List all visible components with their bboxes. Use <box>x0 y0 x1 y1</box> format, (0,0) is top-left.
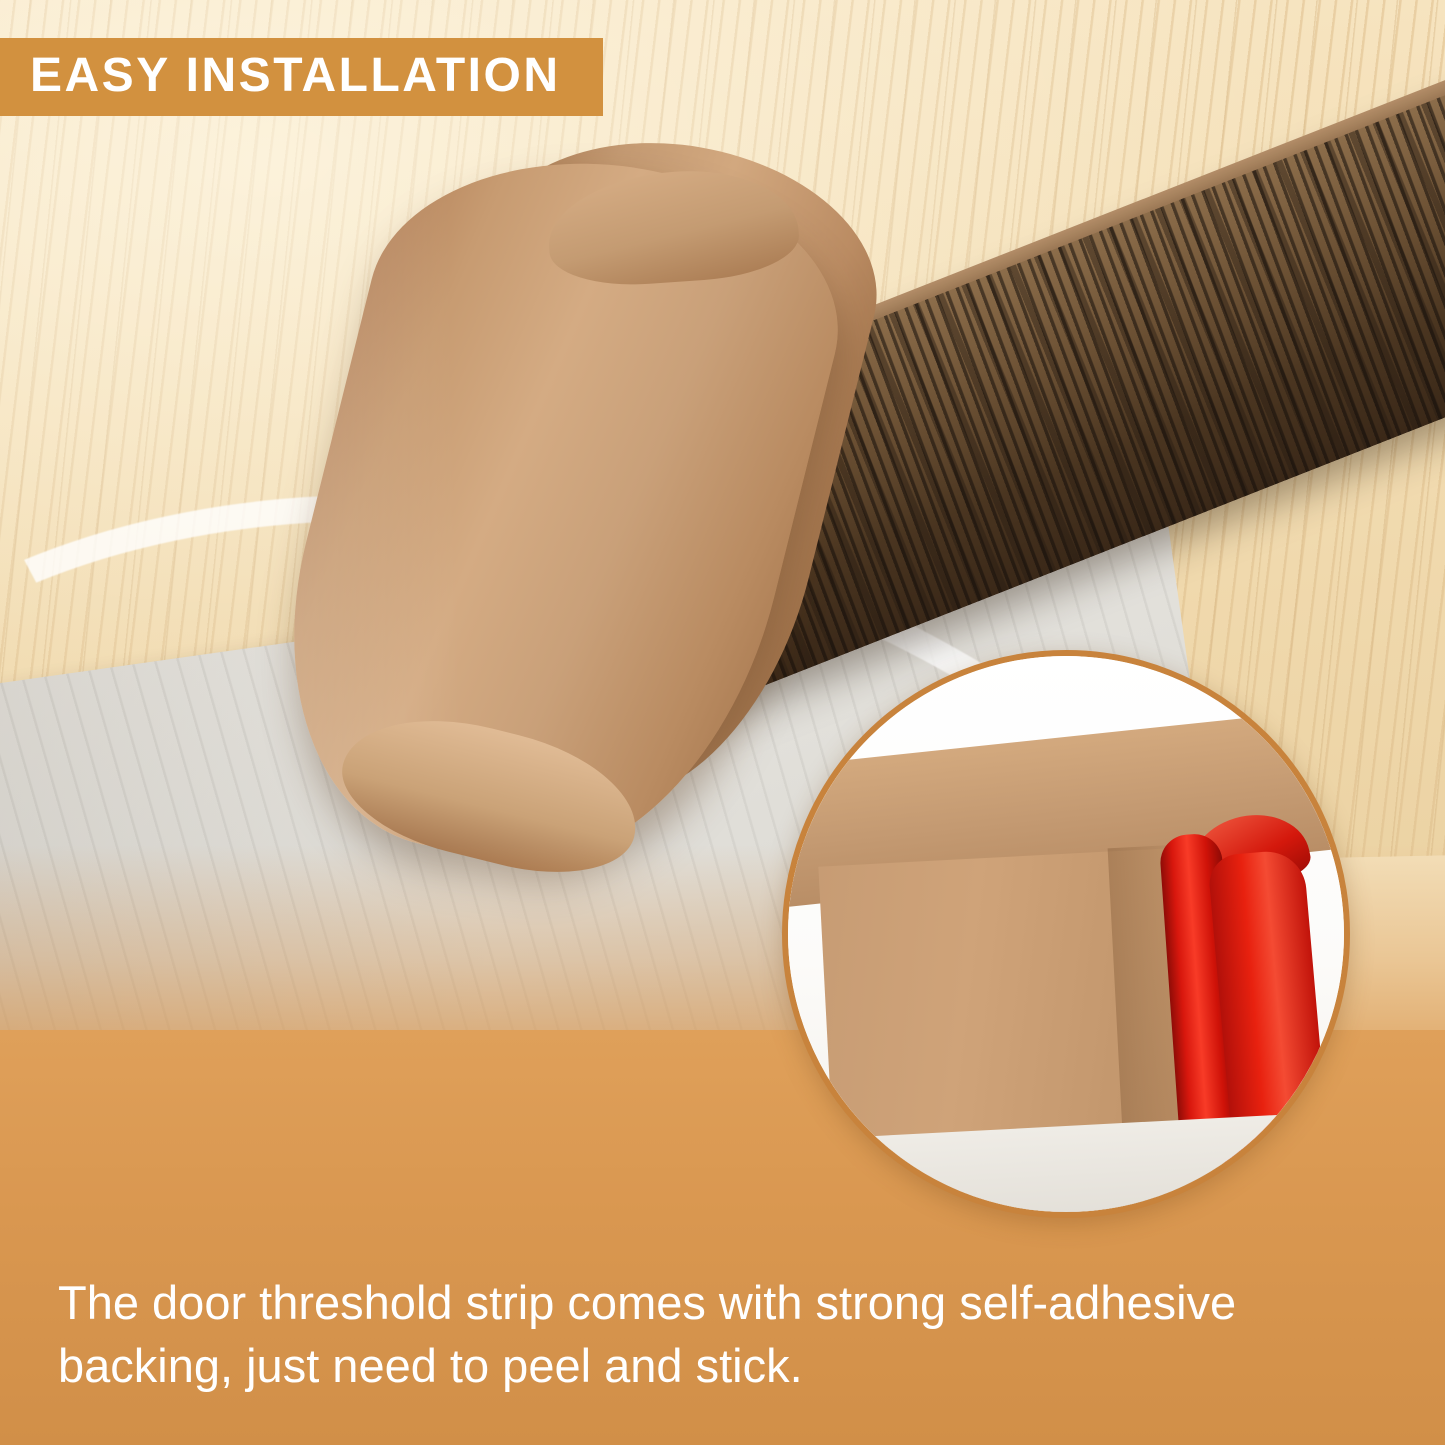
easy-installation-badge: EASY INSTALLATION <box>0 38 603 116</box>
caption-text: The door threshold strip comes with stro… <box>58 1272 1398 1397</box>
adhesive-closeup-inset <box>782 650 1350 1218</box>
badge-label: EASY INSTALLATION <box>30 49 561 102</box>
product-image-canvas: EASY INSTALLATION The door threshold str… <box>0 0 1445 1445</box>
caption-line-1: The door threshold strip comes with stro… <box>58 1272 1398 1335</box>
caption-line-2: backing, just need to peel and stick. <box>58 1335 1398 1398</box>
